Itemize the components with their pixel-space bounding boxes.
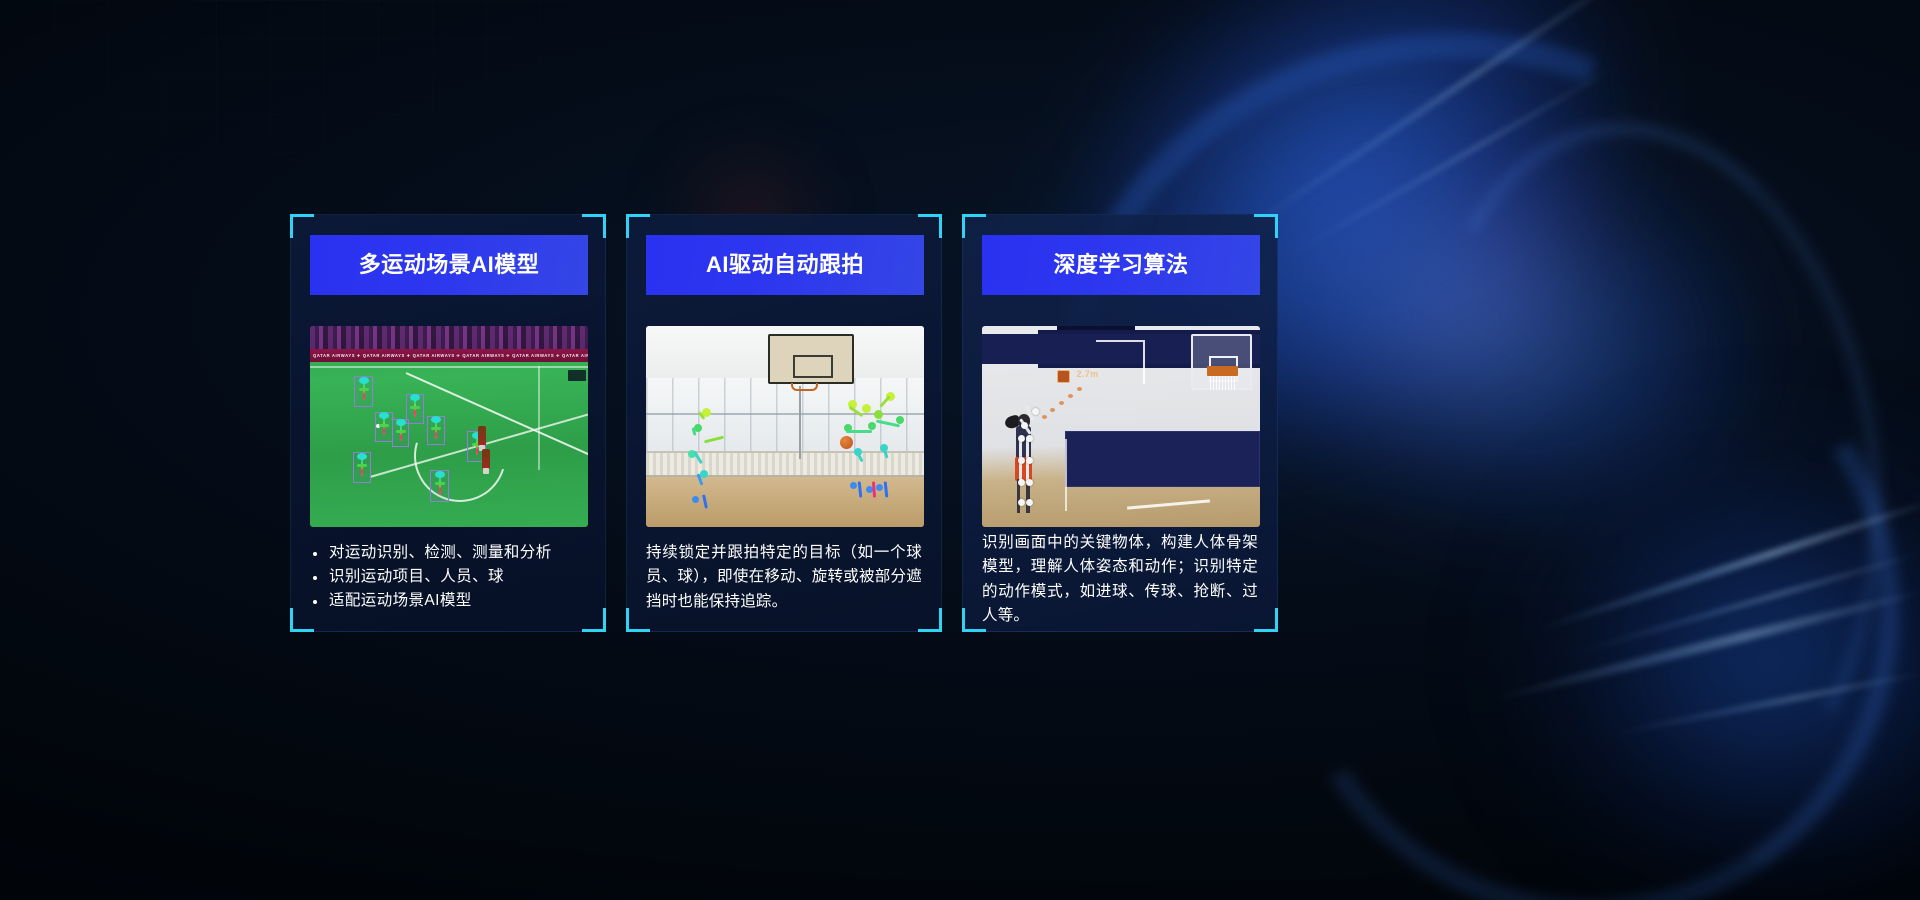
opponent-player (482, 449, 490, 469)
feature-card-multi-sport-ai-model[interactable]: 多运动场景AI模型 QATAR AIRWAYS ✈ QATAR AIRWAYS … (290, 214, 606, 632)
card-description: 持续锁定并跟拍特定的目标（如一个球员、球），即使在移动、旋转或被部分遮挡时也能保… (646, 541, 922, 614)
measurement-label: 2.7m (1077, 369, 1099, 379)
card-title: 深度学习算法 (1053, 254, 1188, 276)
background-red-glow (1220, 45, 1699, 495)
shooting-trajectory-thumbnail: 2.7m (982, 326, 1260, 527)
card-title: 多运动场景AI模型 (359, 254, 540, 276)
card-title: AI驱动自动跟拍 (706, 254, 864, 276)
card-header-banner: AI驱动自动跟拍 (646, 235, 924, 295)
hoop-rim (791, 383, 819, 391)
pitch-line (538, 366, 540, 470)
background-arc-lower (1222, 242, 1920, 900)
list-item: 识别运动项目、人员、球 (310, 565, 586, 589)
card-header-banner: 深度学习算法 (982, 235, 1260, 295)
background-blue-blob-lower (1450, 380, 1920, 900)
background-streak (1530, 492, 1920, 636)
trajectory-guide-vertical (1143, 340, 1145, 384)
sponsor-banner-text: QATAR AIRWAYS ✈ QATAR AIRWAYS ✈ QATAR AI… (310, 353, 588, 358)
hoop-net (1210, 376, 1235, 390)
card-body: 识别画面中的关键物体，构建人体骨架模型，理解人体姿态和动作；识别特定的动作模式，… (982, 531, 1258, 629)
pose-skeleton-shooter (1004, 414, 1048, 515)
detection-box (354, 376, 373, 407)
wall-padding (1065, 431, 1260, 487)
feature-card-row: 多运动场景AI模型 QATAR AIRWAYS ✈ QATAR AIRWAYS … (290, 214, 1280, 632)
background-streak (1486, 585, 1920, 706)
detection-box (427, 416, 445, 445)
feature-card-deep-learning-algorithm[interactable]: 深度学习算法 (962, 214, 1278, 632)
detection-box (353, 452, 371, 483)
background-streak (1567, 548, 1920, 658)
hoop-pole (799, 386, 802, 458)
soccer-pitch-detection-thumbnail: QATAR AIRWAYS ✈ QATAR AIRWAYS ✈ QATAR AI… (310, 326, 588, 527)
ball-tracking-box (1057, 370, 1070, 383)
trajectory-guide-horizontal (1096, 340, 1143, 342)
pose-skeleton (686, 408, 730, 523)
card-body: 持续锁定并跟拍特定的目标（如一个球员、球），即使在移动、旋转或被部分遮挡时也能保… (646, 541, 922, 614)
card-description: 识别画面中的关键物体，构建人体骨架模型，理解人体姿态和动作；识别特定的动作模式，… (982, 531, 1258, 629)
pitch-line (310, 366, 588, 368)
opponent-player (478, 426, 486, 446)
detection-box (375, 412, 393, 442)
background-streak (1603, 668, 1920, 739)
detection-box (430, 470, 449, 502)
basketball (840, 436, 853, 449)
feature-card-ai-auto-tracking[interactable]: AI驱动自动跟拍 (626, 214, 942, 632)
feature-bullet-list: 对运动识别、检测、测量和分析 识别运动项目、人员、球 适配运动场景AI模型 (310, 541, 586, 613)
hoop-rim (1207, 366, 1238, 376)
card-body: 对运动识别、检测、测量和分析 识别运动项目、人员、球 适配运动场景AI模型 (310, 541, 586, 613)
slide-canvas: 多运动场景AI模型 QATAR AIRWAYS ✈ QATAR AIRWAYS … (0, 0, 1920, 900)
court-guide-line (1065, 439, 1067, 511)
ball-trajectory-dots (1040, 380, 1112, 424)
gym-basketball-pose-thumbnail (646, 326, 924, 527)
background-streak (1222, 0, 1657, 247)
list-item: 适配运动场景AI模型 (310, 589, 586, 613)
background-arc-right (1374, 91, 1920, 848)
list-item: 对运动识别、检测、测量和分析 (310, 541, 586, 565)
backboard (768, 334, 854, 384)
pose-skeleton (864, 392, 908, 522)
card-header-banner: 多运动场景AI模型 (310, 235, 588, 295)
sponsor-banner: QATAR AIRWAYS ✈ QATAR AIRWAYS ✈ QATAR AI… (310, 349, 588, 362)
background-streak (1267, 55, 1633, 269)
pitch-side-board (568, 370, 586, 381)
detection-box (392, 419, 409, 447)
